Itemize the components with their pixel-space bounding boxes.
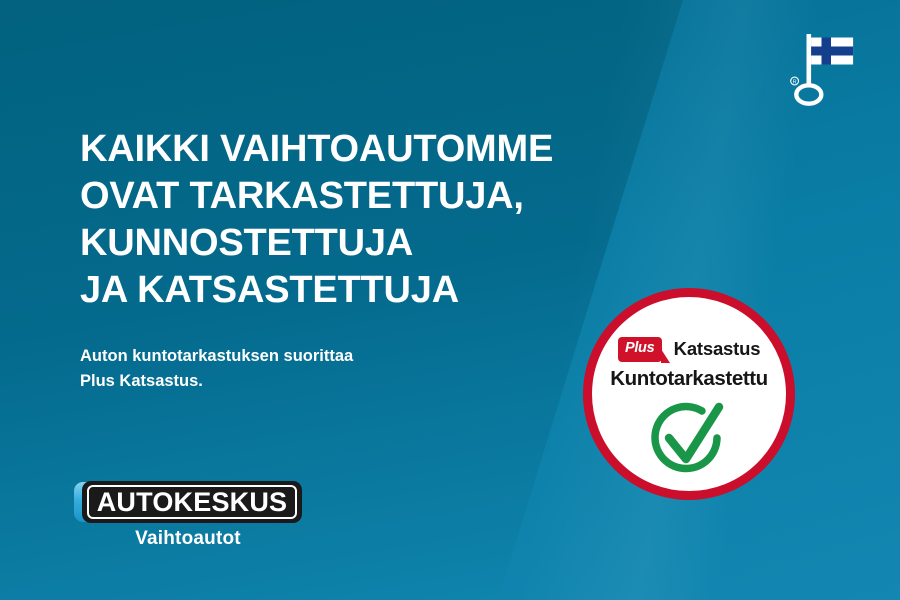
seal-headline: Kuntotarkastettu	[592, 367, 786, 391]
svg-text:R: R	[793, 80, 797, 86]
autokeskus-tagline: Vaihtoautot	[74, 528, 302, 550]
headline-line-4: JA KATSASTETTUJA	[80, 267, 680, 314]
subtitle-line-2: Plus Katsastus.	[80, 369, 500, 394]
autokeskus-wordmark: AUTOKESKUS	[82, 481, 302, 523]
status-badge: Plus Katsastus Kuntotarkastettu	[583, 288, 795, 500]
katsastus-wordmark: Katsastus	[674, 338, 761, 360]
green-check-circle-icon	[639, 397, 739, 485]
plus-chip-tail	[661, 349, 670, 363]
plus-chip-label: Plus	[625, 341, 654, 357]
headline-line-3: KUNNOSTETTUJA	[80, 220, 680, 267]
key-flag-icon: R	[786, 26, 858, 106]
headline-line-2: OVAT TARKASTETTUJA,	[80, 173, 680, 220]
page-subtitle: Auton kuntotarkastuksen suorittaa Plus K…	[80, 344, 500, 394]
autokeskus-logo[interactable]: AUTOKESKUS	[74, 481, 302, 523]
page-title: KAIKKI VAIHTOAUTOMME OVAT TARKASTETTUJA,…	[80, 126, 680, 314]
marketing-banner: R KAIKKI VAIHTOAUTOMME OVAT TARKASTETTUJ…	[0, 0, 900, 600]
headline-line-1: KAIKKI VAIHTOAUTOMME	[80, 126, 680, 173]
plus-logo-chip: Plus	[618, 337, 662, 362]
seal-brand-row: Plus Katsastus	[592, 335, 786, 363]
subtitle-line-1: Auton kuntotarkastuksen suorittaa	[80, 344, 500, 369]
